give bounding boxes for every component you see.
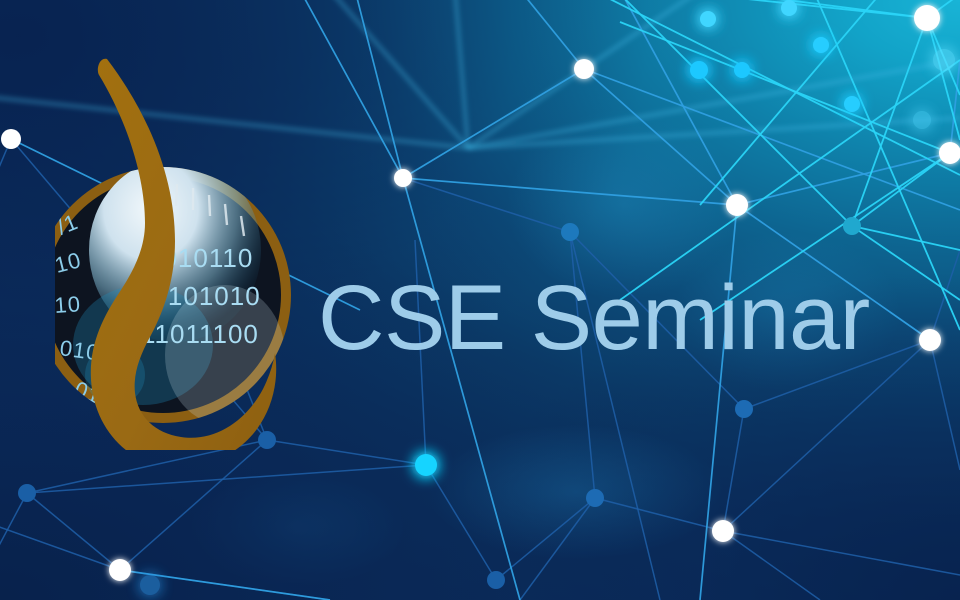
logo-artwork: 1010110 00101010 11011100 /1 10 10 010 0… <box>55 45 315 450</box>
cse-flame-binary-globe-logo: 1010110 00101010 11011100 /1 10 10 010 0… <box>55 45 315 450</box>
globe-binary-row-3: 11011100 <box>141 319 259 349</box>
cse-seminar-banner: 1010110 00101010 11011100 /1 10 10 010 0… <box>0 0 960 600</box>
page-title: CSE Seminar <box>318 272 870 364</box>
globe-rim-binary-3: 10 <box>55 291 82 318</box>
